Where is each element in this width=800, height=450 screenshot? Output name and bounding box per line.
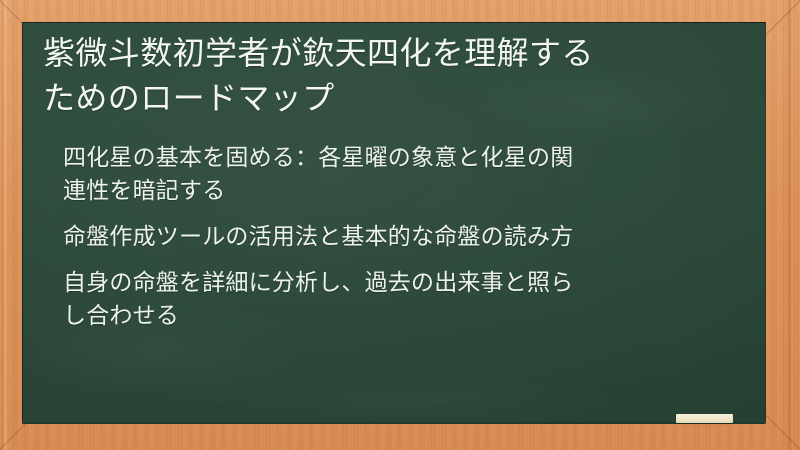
frame-highlight-right <box>788 0 791 450</box>
list-item-line-1: 四化星の基本を固める：各星曜の象意と化星の関 <box>63 145 573 171</box>
slide-title-line-1: 紫微斗数初学者が欽天四化を理解する <box>43 34 594 72</box>
board-content: 紫微斗数初学者が欽天四化を理解するためのロードマップ 四化星の基本を固める：各星… <box>23 23 765 334</box>
list-item: 自身の命盤を詳細に分析し、過去の出来事と照らし合わせる <box>63 267 745 334</box>
list-item: 四化星の基本を固める：各星曜の象意と化星の関連性を暗記する <box>63 142 745 209</box>
list-item: 命盤作成ツールの活用法と基本的な命盤の読み方 <box>63 221 745 255</box>
list-item-line-2: 連性を暗記する <box>63 178 225 204</box>
chalkboard-surface: 紫微斗数初学者が欽天四化を理解するためのロードマップ 四化星の基本を固める：各星… <box>22 22 766 424</box>
frame-highlight-left <box>4 0 7 450</box>
slide-title: 紫微斗数初学者が欽天四化を理解するためのロードマップ <box>35 31 743 122</box>
chalk-stick <box>676 414 733 423</box>
slide-title-line-2: ためのロードマップ <box>43 79 335 117</box>
list-item-line-2: し合わせる <box>63 303 179 329</box>
roadmap-list: 四化星の基本を固める：各星曜の象意と化星の関連性を暗記する 命盤作成ツールの活用… <box>35 128 745 334</box>
list-item-line-1: 自身の命盤を詳細に分析し、過去の出来事と照ら <box>63 270 573 296</box>
list-item-line-1: 命盤作成ツールの活用法と基本的な命盤の読み方 <box>63 224 573 250</box>
blackboard-slide: 紫微斗数初学者が欽天四化を理解するためのロードマップ 四化星の基本を固める：各星… <box>0 0 800 450</box>
